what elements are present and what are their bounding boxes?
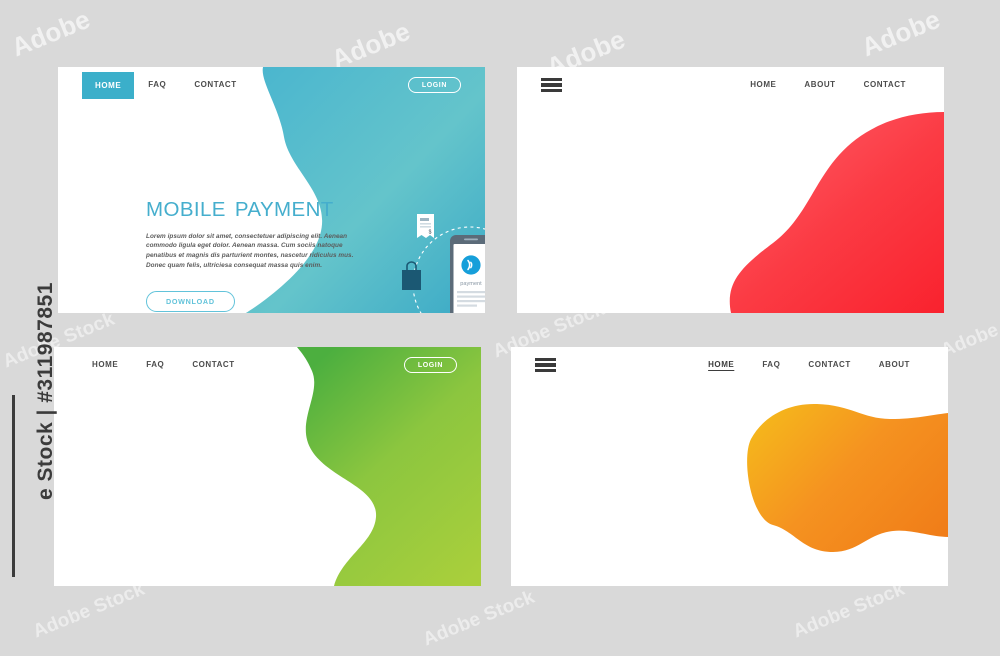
hamburger-menu-icon[interactable] — [541, 78, 562, 93]
login-button[interactable]: LOGIN — [408, 77, 461, 93]
nav-item-home[interactable]: HOME — [736, 67, 790, 103]
navbar: HOME FAQ CONTACT LOGIN — [54, 347, 481, 383]
watermark-text: Adobe Stock — [790, 579, 908, 644]
download-button[interactable]: DOWNLOAD — [146, 291, 235, 312]
nav-item-contact[interactable]: CONTACT — [178, 347, 248, 383]
watermark-text: Adobe Stock — [30, 579, 148, 644]
stock-id-label: e Stock | #311987851 — [34, 280, 58, 500]
hero-block: MOBILEPAYMENT Lorem ipsum dolor sit amet… — [146, 200, 354, 312]
nav-item-home[interactable]: HOME — [82, 72, 134, 99]
hamburger-menu-icon[interactable] — [535, 358, 556, 373]
red-blob-shape — [517, 67, 944, 313]
landing-page-card-orange: HOME FAQ CONTACT ABOUT MOBILEPAYMENT Lor… — [511, 347, 948, 586]
title-word-mobile: MOBILE — [146, 198, 226, 221]
phone-screen-label: payment — [460, 281, 482, 287]
title-word-payment: PAYMENT — [235, 198, 334, 221]
nav-links: HOME FAQ CONTACT ABOUT — [694, 347, 924, 383]
side-rule — [12, 395, 15, 577]
landing-page-card-green: HOME FAQ CONTACT LOGIN MOBILEPAYMENT Lor… — [54, 347, 481, 586]
svg-text:$: $ — [429, 230, 432, 236]
receipt-icon: $ — [417, 214, 434, 238]
nav-item-faq[interactable]: FAQ — [134, 67, 180, 103]
navbar: HOME FAQ CONTACT ABOUT — [511, 347, 948, 383]
nav-actions: LOGIN — [404, 347, 457, 383]
nav-menu-toggle-wrap — [535, 347, 556, 383]
hero-paragraph: Lorem ipsum dolor sit amet, consectetuer… — [146, 232, 354, 272]
nav-item-about[interactable]: ABOUT — [865, 347, 924, 383]
nav-item-home[interactable]: HOME — [694, 347, 748, 383]
nav-links: HOME FAQ CONTACT — [78, 347, 249, 383]
nav-item-home[interactable]: HOME — [78, 347, 132, 383]
nav-links: HOME ABOUT CONTACT — [736, 67, 920, 103]
nav-links: HOME FAQ CONTACT — [82, 67, 251, 103]
nav-item-about[interactable]: ABOUT — [790, 67, 849, 103]
page-title: MOBILEPAYMENT — [146, 200, 354, 221]
navbar: HOME FAQ CONTACT LOGIN — [58, 67, 485, 103]
landing-page-card-red: HOME ABOUT CONTACT MOBILEPAYMENT Lorem i… — [517, 67, 944, 313]
navbar: HOME ABOUT CONTACT — [517, 67, 944, 103]
login-button[interactable]: LOGIN — [404, 357, 457, 373]
nav-menu-toggle-wrap — [541, 67, 562, 103]
watermark-text: Adobe Stock — [420, 587, 538, 652]
mobile-phone-payment-illustration: payment $ — [400, 208, 485, 313]
nav-item-contact[interactable]: CONTACT — [850, 67, 920, 103]
watermark-text: Adobe — [7, 4, 95, 63]
shopping-bag-icon — [402, 262, 421, 290]
nav-item-contact[interactable]: CONTACT — [794, 347, 864, 383]
nav-actions: LOGIN — [408, 67, 461, 103]
nav-item-faq[interactable]: FAQ — [748, 347, 794, 383]
nav-item-faq[interactable]: FAQ — [132, 347, 178, 383]
nav-item-contact[interactable]: CONTACT — [180, 67, 250, 103]
landing-page-card-teal: HOME FAQ CONTACT LOGIN MOBILEPAYMENT Lor… — [58, 67, 485, 313]
watermark-text: Adobe — [857, 4, 945, 63]
